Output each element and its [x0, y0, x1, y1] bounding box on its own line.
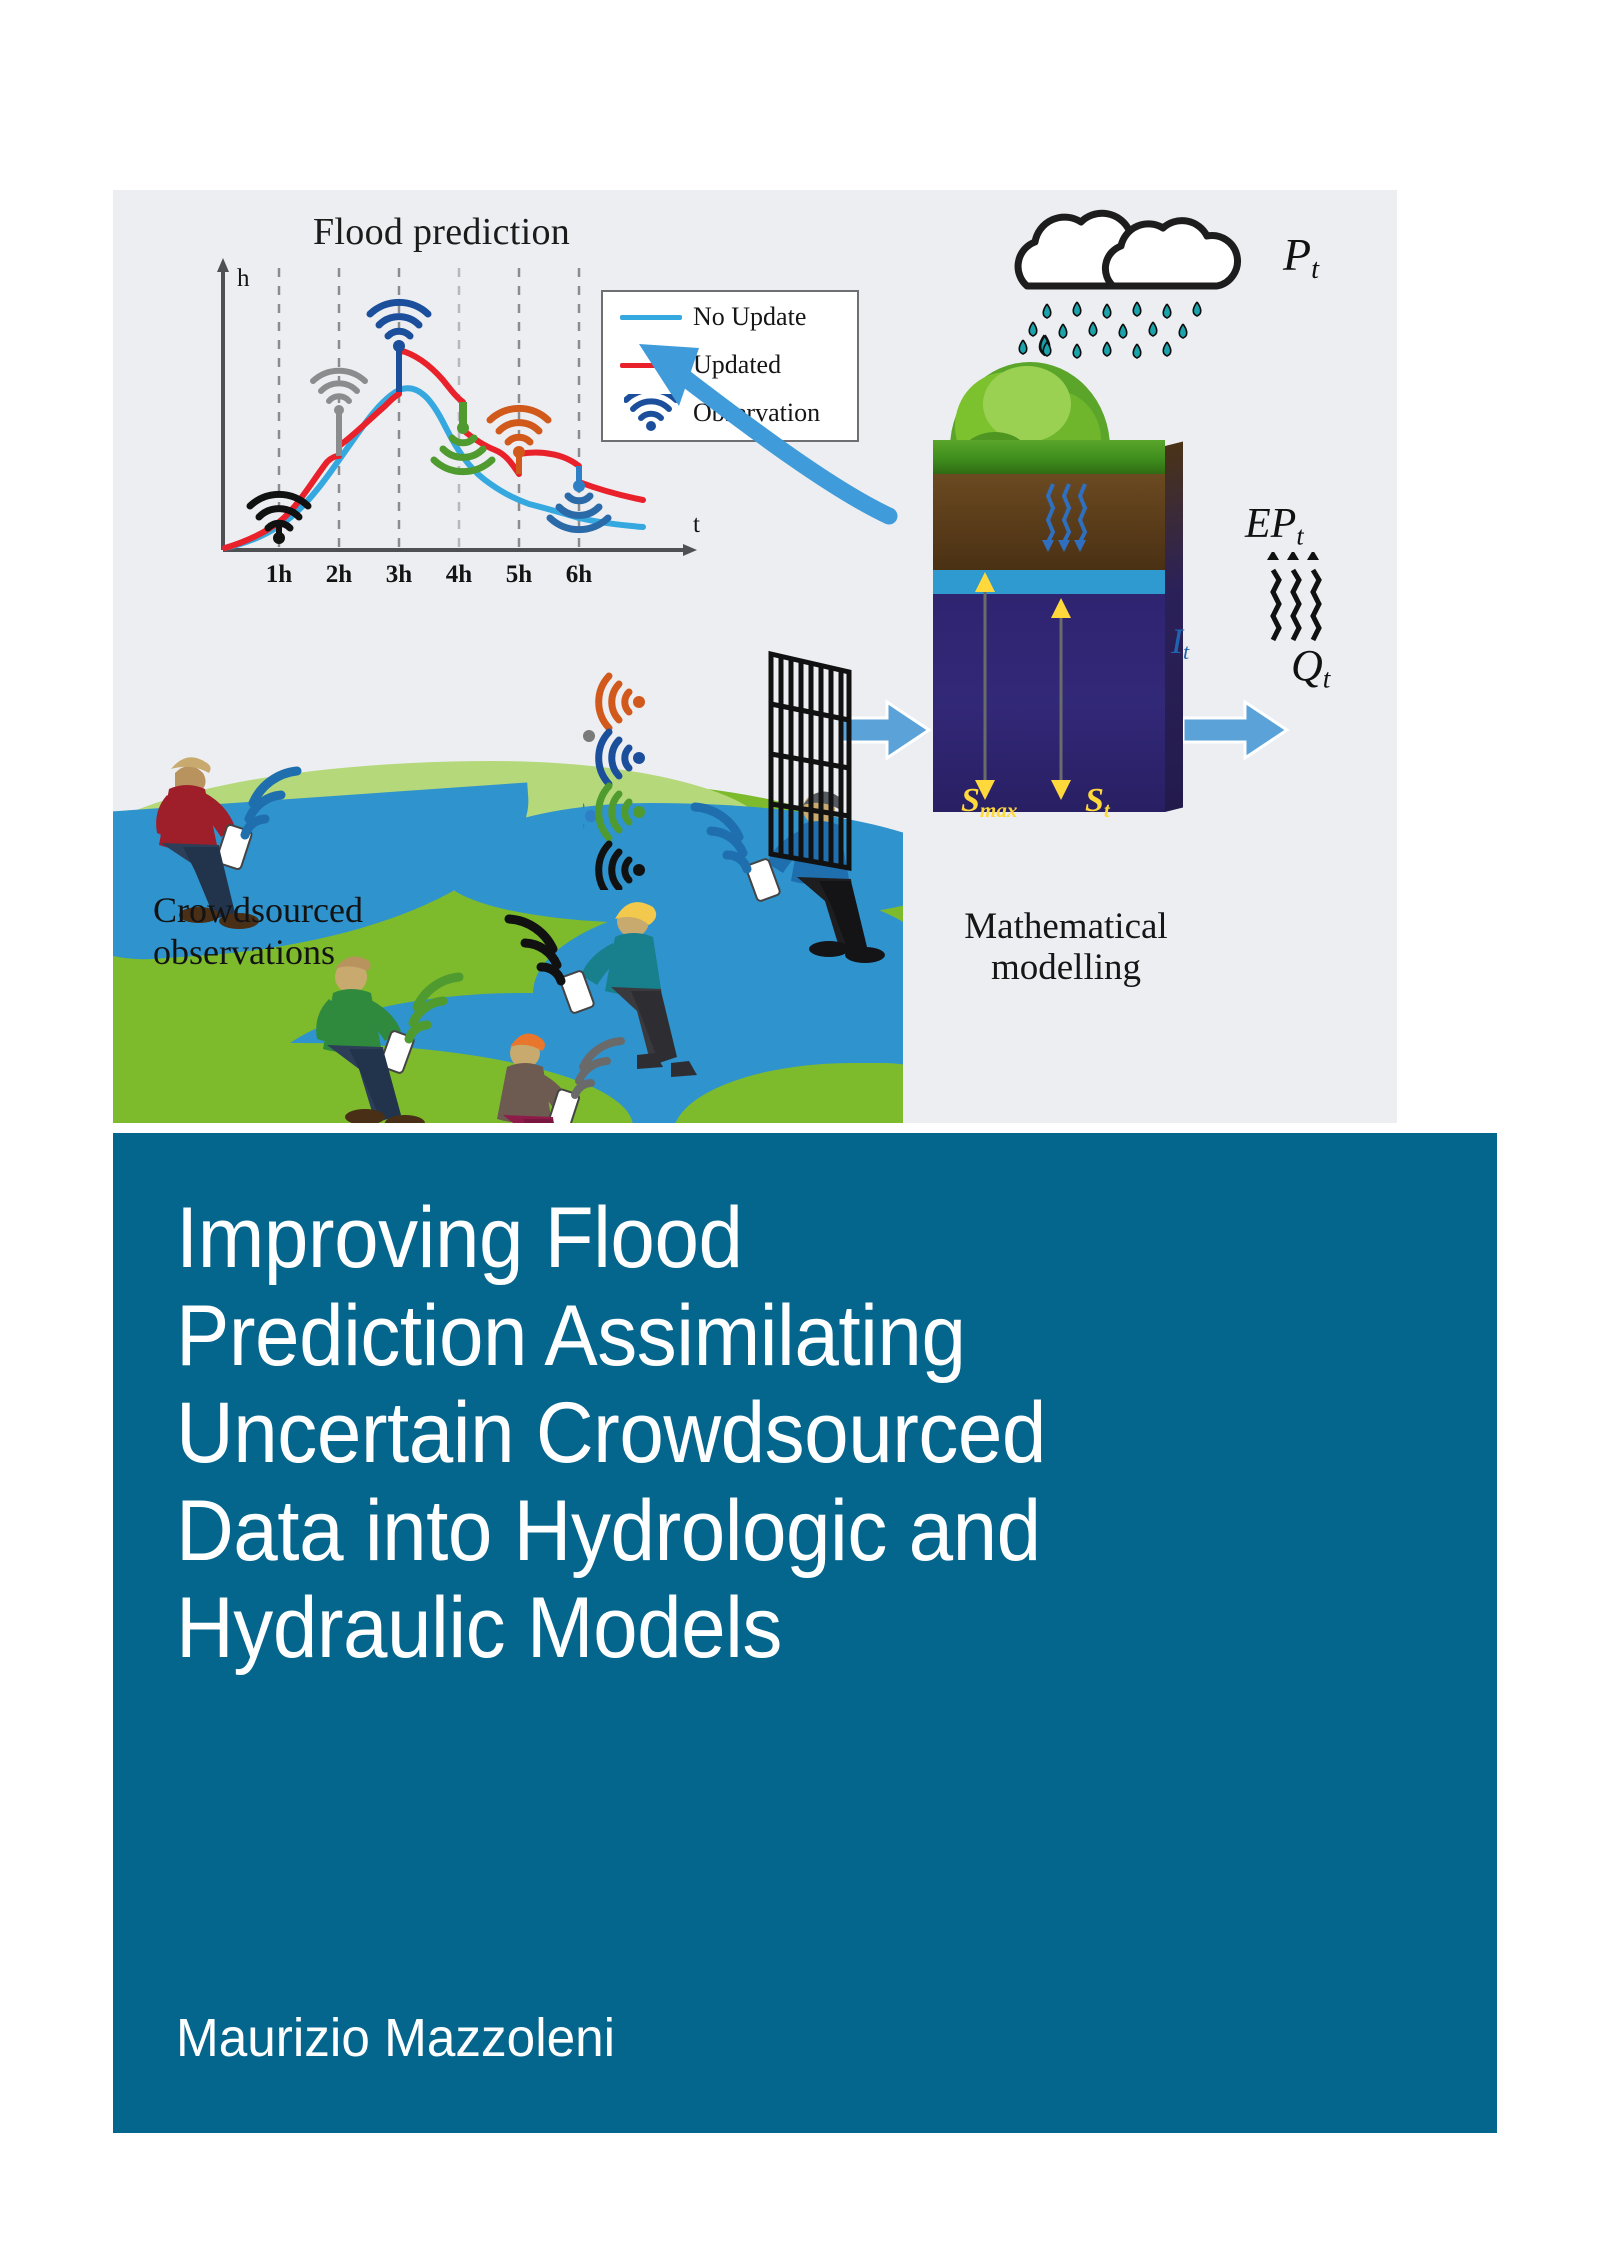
- svg-text:6h: 6h: [566, 561, 593, 588]
- crowdsourced-caption-line-2: observations: [153, 932, 363, 974]
- y-axis-label: h: [237, 265, 250, 292]
- title-line-3: Uncertain Crowdsourced: [176, 1385, 1357, 1483]
- feedback-arrow-icon: [603, 300, 923, 550]
- sensor-signals: [583, 640, 783, 890]
- precipitation-label: Pt: [1283, 228, 1319, 286]
- max-storage-label: Smax: [961, 782, 1017, 823]
- chart-title: Flood prediction: [313, 210, 570, 254]
- model-caption: Mathematical modelling: [831, 906, 1301, 989]
- crowdsourced-caption: Crowdsourced observations: [153, 890, 363, 974]
- evaporation-arrows-icon: [1261, 552, 1331, 644]
- signal-gray-icon: [583, 710, 595, 762]
- storage-label: St: [1085, 782, 1110, 823]
- signal-black-icon: [599, 844, 645, 890]
- book-title: Improving Flood Prediction Assimilating …: [176, 1190, 1357, 1678]
- person-magenta: [497, 1034, 621, 1123]
- signal-orange-icon: [599, 676, 645, 728]
- evapotranspiration-label: EPt: [1245, 500, 1304, 551]
- cover-illustration-panel: Crowdsourced observations Flood predicti…: [113, 190, 1397, 1123]
- book-cover: Crowdsourced observations Flood predicti…: [0, 0, 1600, 2259]
- title-line-4: Data into Hydrologic and: [176, 1483, 1357, 1581]
- signal-blue-icon: [583, 790, 597, 842]
- book-author: Maurizio Mazzoleni: [176, 2007, 615, 2069]
- title-line-2: Prediction Assimilating: [176, 1288, 1357, 1386]
- x-tick-labels: 1h 2h 3h 4h 5h 6h: [266, 561, 593, 588]
- svg-text:2h: 2h: [326, 561, 353, 588]
- svg-text:1h: 1h: [266, 561, 293, 588]
- infiltration-label: It: [1171, 620, 1189, 665]
- svg-text:5h: 5h: [506, 561, 533, 588]
- title-line-5: Hydraulic Models: [176, 1580, 1357, 1678]
- model-caption-line-1: Mathematical: [831, 906, 1301, 947]
- observation-marker-4h: [434, 422, 492, 472]
- signal-darkblue-icon: [599, 732, 645, 784]
- title-band: Improving Flood Prediction Assimilating …: [113, 1133, 1497, 2133]
- person-green: [316, 957, 459, 1124]
- discharge-label: Qt: [1291, 640, 1330, 695]
- svg-text:4h: 4h: [446, 561, 473, 588]
- title-line-1: Improving Flood: [176, 1190, 1357, 1288]
- storage-arrows: [933, 440, 1165, 812]
- svg-text:3h: 3h: [386, 561, 413, 588]
- raindrops: [1019, 302, 1201, 358]
- crowdsourced-caption-line-1: Crowdsourced: [153, 890, 363, 932]
- model-caption-line-2: modelling: [831, 947, 1301, 988]
- discharge-arrow-icon: [1183, 698, 1293, 768]
- soil-column-illustration: [933, 440, 1165, 812]
- signal-green-icon: [599, 786, 645, 838]
- infiltration-arrows-icon: [1048, 484, 1085, 542]
- mathematical-model-diagram: Pt EPt: [813, 190, 1397, 1123]
